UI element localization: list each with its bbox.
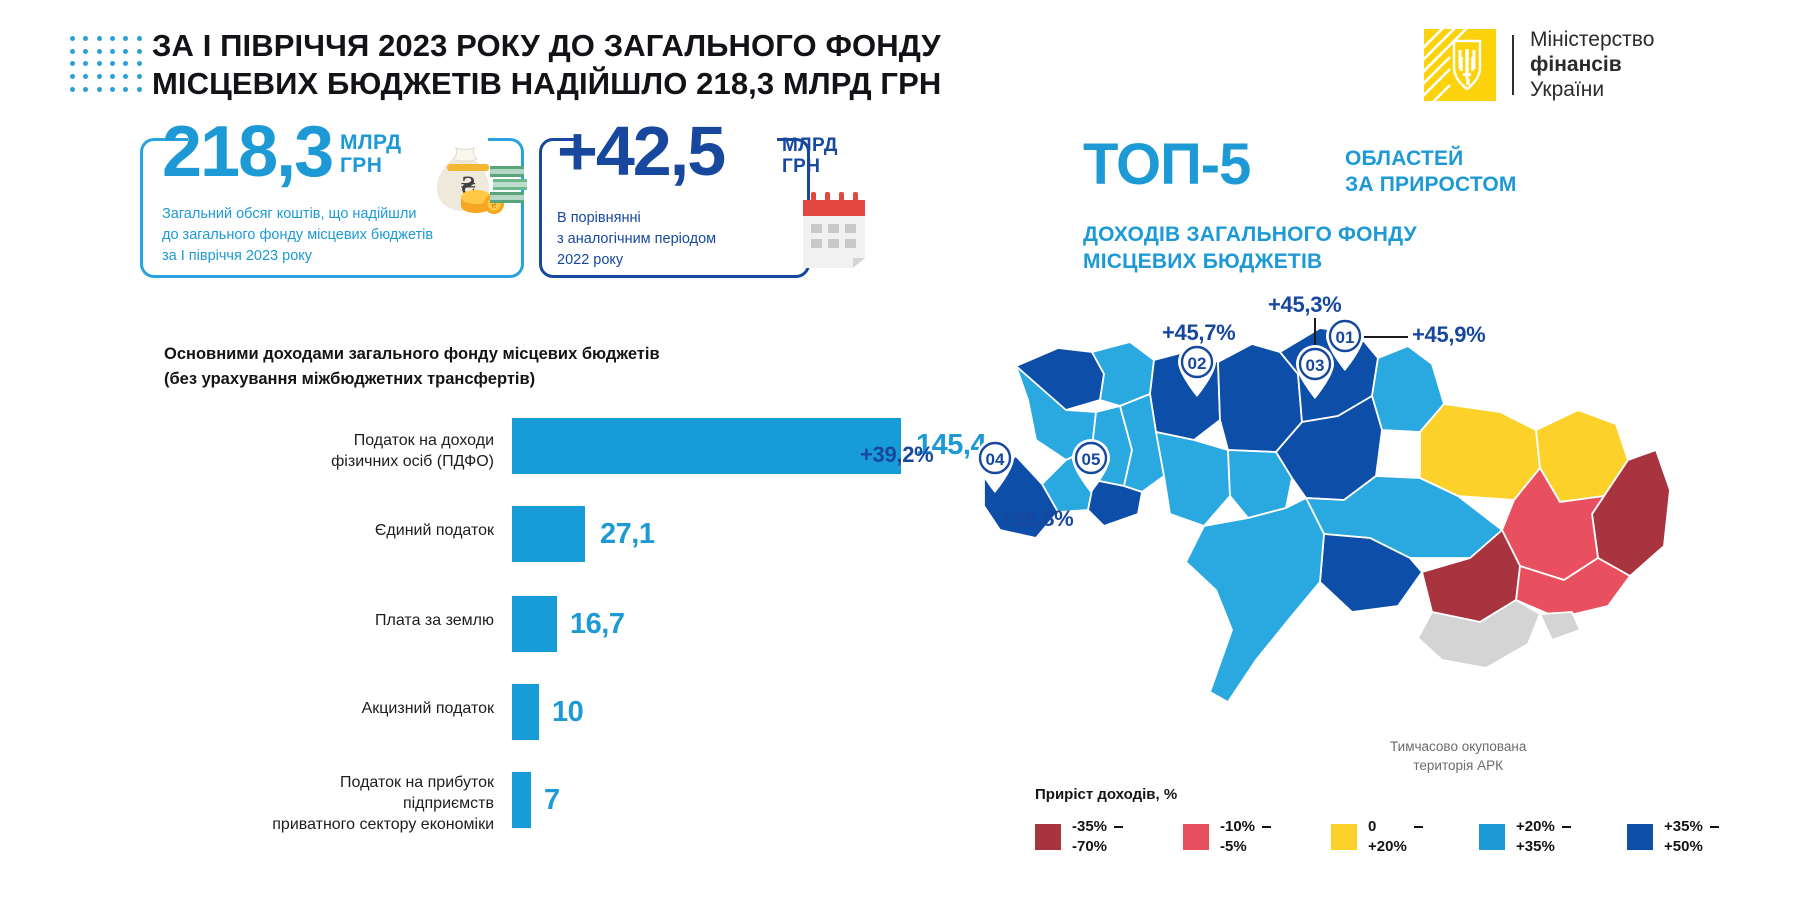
bar-value: 16,7 (570, 608, 624, 641)
map-pin-04[interactable]: 04 (972, 436, 1018, 494)
bar-row: Плата за землю 16,7 (164, 594, 924, 682)
range-dash-icon (1710, 826, 1719, 828)
svg-text:01: 01 (1336, 328, 1355, 347)
top5-side-line2: ЗА ПРИРОСТОМ (1345, 172, 1517, 198)
legend-range-from: +20% (1516, 817, 1555, 837)
bar-label: Плата за землю (164, 610, 494, 631)
top5-bottom-line2: МІСЦЕВИХ БЮДЖЕТІВ (1083, 249, 1417, 276)
growth-unit-line1: МЛРД (782, 136, 838, 157)
total-unit-line1: МЛРД (340, 132, 401, 155)
legend-range: +20% +35% (1516, 817, 1555, 856)
legend-range-to: +35% (1516, 837, 1555, 857)
total-unit: МЛРД ГРН (340, 132, 401, 177)
logo-line-2: фінансів (1530, 53, 1654, 78)
calendar-icon (797, 186, 877, 272)
crimea-note-line1: Тимчасово окупована (1390, 738, 1526, 757)
logo-text: Міністерство фінансів України (1530, 28, 1654, 102)
legend-range-to: +50% (1664, 837, 1703, 857)
bar-row: Податок на доходи фізичних осіб (ПДФО) 1… (164, 418, 924, 506)
bar-rect (512, 418, 901, 474)
page-title-line2: МІСЦЕВИХ БЮДЖЕТІВ НАДІЙШЛО 218,3 МЛРД ГР… (152, 65, 1212, 103)
bar-label: Податок на прибуток підприємств приватно… (164, 772, 494, 835)
region-odesa (1186, 498, 1324, 702)
top5-bottom-line1: ДОХОДІВ ЗАГАЛЬНОГО ФОНДУ (1083, 222, 1417, 249)
bar-value: 7 (544, 784, 560, 817)
legend-item: 0 +20% (1331, 817, 1479, 856)
bar-value: 10 (552, 696, 583, 729)
bar-rect (512, 506, 585, 562)
chart-caption: Основними доходами загального фонду місц… (164, 342, 660, 392)
legend-range-from: +35% (1664, 817, 1703, 837)
svg-text:05: 05 (1082, 450, 1101, 469)
bar-rect (512, 772, 531, 828)
map-pin-05[interactable]: 05 (1068, 436, 1114, 494)
range-dash-icon (1262, 826, 1271, 828)
bar-label: Акцизний податок (164, 698, 494, 719)
legend-range-from: -10% (1220, 817, 1255, 837)
growth-unit-line2: ГРН (782, 157, 838, 178)
growth-value: +42,5 (557, 116, 724, 186)
legend-title: Приріст доходів, % (1035, 786, 1775, 803)
legend-items: -35% -70% -10% -5% 0 +20% +20% (1035, 817, 1775, 856)
map-percent-04: +39,2% (860, 442, 933, 468)
map-legend: Приріст доходів, % -35% -70% -10% -5% 0 … (1035, 786, 1775, 856)
legend-range-from: 0 (1368, 817, 1407, 837)
bar-chart: Податок на доходи фізичних осіб (ПДФО) 1… (164, 418, 924, 858)
legend-range-to: +20% (1368, 837, 1407, 857)
map-pin-03[interactable]: 03 (1292, 342, 1338, 400)
svg-text:03: 03 (1306, 356, 1325, 375)
bar-rect (512, 684, 539, 740)
top5-bottom-label: ДОХОДІВ ЗАГАЛЬНОГО ФОНДУ МІСЦЕВИХ БЮДЖЕТ… (1083, 222, 1417, 276)
legend-range: 0 +20% (1368, 817, 1407, 856)
bar-row: Податок на прибуток підприємств приватно… (164, 770, 924, 858)
legend-range: -35% -70% (1072, 817, 1107, 856)
map-pin-02[interactable]: 02 (1174, 340, 1220, 398)
legend-item: +20% +35% (1479, 817, 1627, 856)
total-description: Загальний обсяг коштів, що надійшли до з… (162, 204, 433, 267)
page-title: ЗА І ПІВРІЧЧЯ 2023 РОКУ ДО ЗАГАЛЬНОГО ФО… (152, 27, 1212, 102)
total-unit-line2: ГРН (340, 155, 401, 178)
legend-range-from: -35% (1072, 817, 1107, 837)
legend-swatch (1035, 824, 1061, 850)
bar-row: Єдиний податок 27,1 (164, 506, 924, 594)
legend-swatch (1183, 824, 1209, 850)
bar-label: Єдиний податок (164, 520, 494, 541)
legend-range-to: -5% (1220, 837, 1255, 857)
crimea-note-line2: територія АРК (1390, 757, 1526, 776)
total-value: 218,3 (162, 116, 332, 188)
money-bag-icon: ₴ ₴ (418, 140, 528, 218)
bar-row: Акцизний податок 10 (164, 682, 924, 770)
logo-line-1: Міністерство (1530, 28, 1654, 53)
range-dash-icon (1114, 826, 1123, 828)
legend-swatch (1479, 824, 1505, 850)
legend-item: +35% +50% (1627, 817, 1775, 856)
map-percent-01: +45,9% (1412, 322, 1485, 348)
legend-item: -35% -70% (1035, 817, 1183, 856)
legend-swatch (1331, 824, 1357, 850)
region-crimea-east (1540, 612, 1580, 640)
range-dash-icon (1414, 826, 1423, 828)
stat-card-growth: +42,5 МЛРД ГРН В порівнянні з аналогічни… (539, 138, 810, 278)
legend-swatch (1627, 824, 1653, 850)
crimea-occupied-note: Тимчасово окупована територія АРК (1390, 738, 1526, 775)
page-header: ЗА І ПІВРІЧЧЯ 2023 РОКУ ДО ЗАГАЛЬНОГО ФО… (0, 0, 1800, 128)
bar-rect (512, 596, 557, 652)
bar-value: 27,1 (600, 518, 654, 551)
ukraine-choropleth-map: +45,3% +45,7% +45,9% +39,2% +36,8% 01 02… (980, 300, 1680, 720)
map-percent-05: +36,8% (1000, 506, 1073, 532)
logo-divider (1512, 35, 1514, 95)
bar-label: Податок на доходи фізичних осіб (ПДФО) (164, 430, 494, 472)
growth-description: В порівнянні з аналогічним періодом 2022… (557, 208, 716, 271)
range-dash-icon (1562, 826, 1571, 828)
top5-side-label: ОБЛАСТЕЙ ЗА ПРИРОСТОМ (1345, 146, 1517, 199)
logo-line-3: України (1530, 78, 1654, 103)
svg-text:04: 04 (986, 450, 1005, 469)
legend-range: +35% +50% (1664, 817, 1703, 856)
trident-emblem-icon (1424, 29, 1496, 101)
legend-range: -10% -5% (1220, 817, 1255, 856)
ministry-of-finance-logo: Міністерство фінансів України (1424, 28, 1654, 102)
region-vinnytsia (1156, 432, 1230, 526)
growth-unit: МЛРД ГРН (782, 136, 838, 177)
legend-range-to: -70% (1072, 837, 1107, 857)
svg-text:02: 02 (1188, 354, 1207, 373)
top5-side-line1: ОБЛАСТЕЙ (1345, 146, 1517, 172)
dot-grid-decoration (66, 32, 146, 96)
top5-big-label: ТОП-5 (1083, 136, 1250, 194)
trident-svg (1424, 29, 1496, 101)
page-title-line1: ЗА І ПІВРІЧЧЯ 2023 РОКУ ДО ЗАГАЛЬНОГО ФО… (152, 27, 1212, 65)
legend-item: -10% -5% (1183, 817, 1331, 856)
